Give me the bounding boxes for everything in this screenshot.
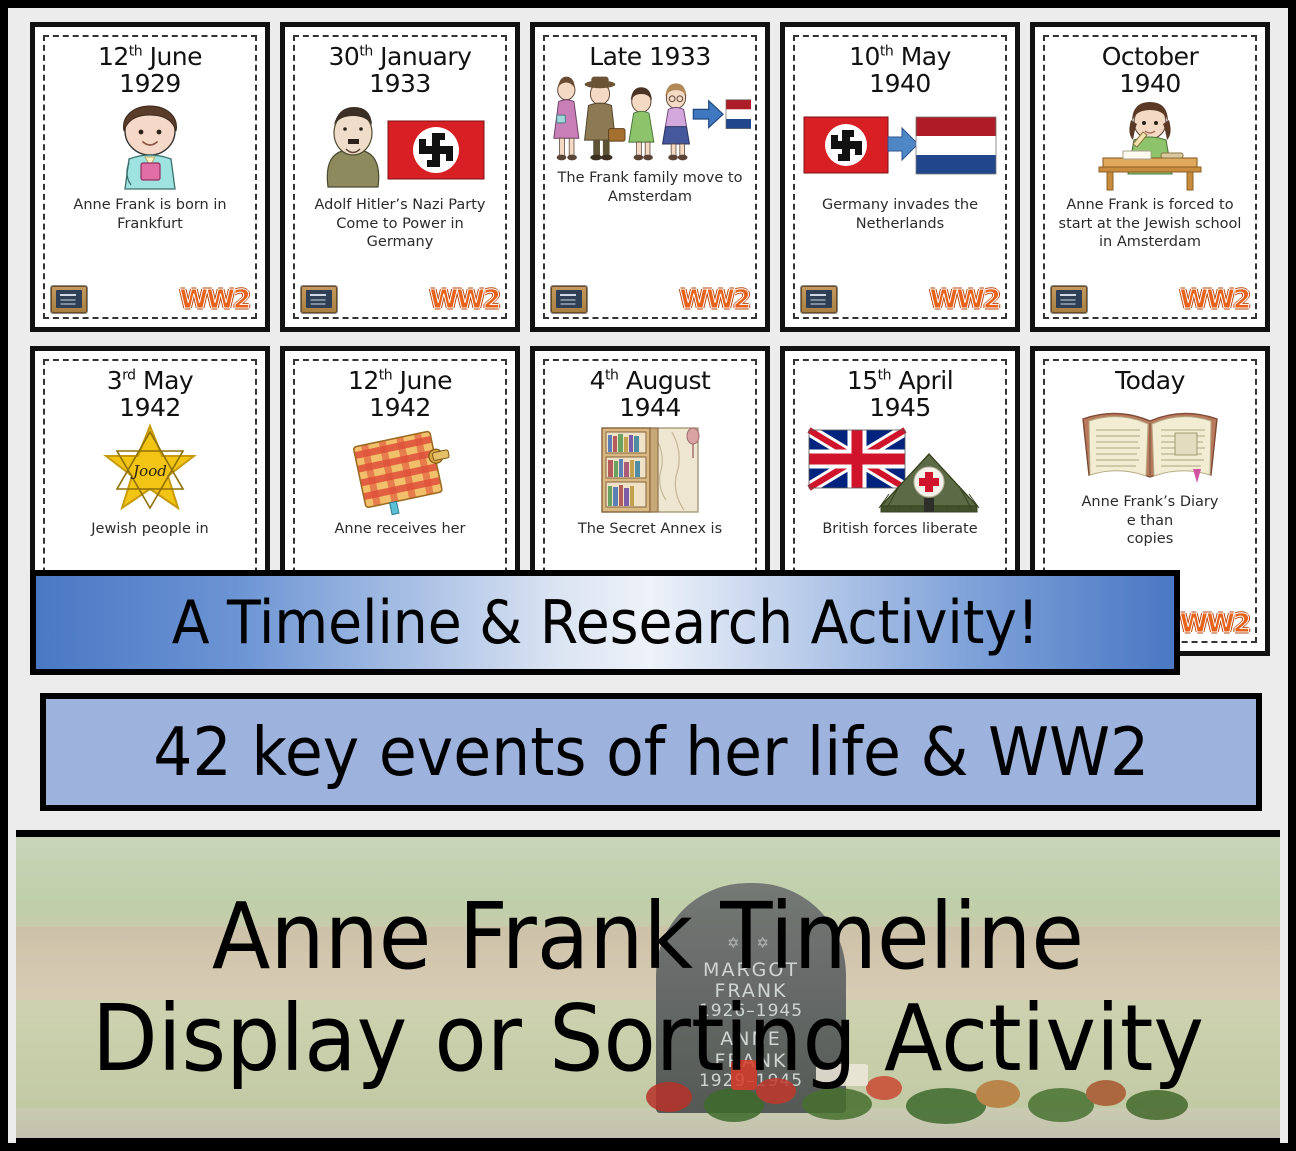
- ww2-logo: WW2: [1180, 287, 1249, 313]
- timeline-card[interactable]: 12th June 1929: [30, 22, 270, 332]
- card-date: 30th January 1933: [329, 43, 472, 97]
- timeline-card[interactable]: 10th May 1940: [780, 22, 1020, 332]
- card-date: Today: [1115, 367, 1185, 394]
- card-caption: Anne Frank is born in Frankfurt: [49, 196, 251, 233]
- yellow-star-of-david-jood-icon: Jood: [49, 424, 251, 516]
- ww2-logo: WW2: [680, 287, 749, 313]
- timeline-card[interactable]: 30th January 1933: [280, 22, 520, 332]
- timeline-card[interactable]: October 1940: [1030, 22, 1270, 332]
- card-caption: Jewish people in: [88, 520, 211, 539]
- card-caption: Anne Frank is forced to start at the Jew…: [1049, 196, 1251, 252]
- card-date: Late 1933: [589, 43, 711, 70]
- card-inner: 30th January 1933: [293, 35, 507, 319]
- girl-at-school-desk-icon: [1049, 100, 1251, 192]
- card-date: October 1940: [1102, 43, 1199, 97]
- ww2-logo: WW2: [930, 287, 999, 313]
- girl-holding-book-icon: [49, 100, 251, 192]
- card-footer: WW2: [801, 283, 999, 313]
- card-caption: Anne receives her: [331, 520, 468, 539]
- chalkboard-icon: [51, 286, 87, 313]
- poster-page: 12th June 1929: [0, 0, 1296, 1151]
- card-inner: Late 1933: [543, 35, 757, 319]
- banner-timeline-research-activity: A Timeline & Research Activity!: [30, 570, 1180, 675]
- card-inner: 10th May 1940: [793, 35, 1007, 319]
- open-diary-book-icon: [1049, 397, 1251, 489]
- union-jack-and-medical-tent-icon: [799, 424, 1001, 516]
- title-line-2: Display or Sorting Activity: [92, 993, 1204, 1085]
- banner-2-text: 42 key events of her life & WW2: [153, 713, 1149, 791]
- banner-1-text: A Timeline & Research Activity!: [171, 588, 1038, 658]
- timeline-card-grid: 12th June 1929: [30, 22, 1286, 656]
- red-checked-diary-icon: [299, 424, 501, 516]
- ww2-logo: WW2: [1180, 611, 1249, 637]
- card-caption: Germany invades the Netherlands: [799, 196, 1001, 233]
- card-inner: 12th June 1929: [43, 35, 257, 319]
- nazi-flag-arrow-dutch-flag-icon: [799, 100, 1001, 192]
- title-line-1: Anne Frank Timeline: [212, 891, 1084, 983]
- chalkboard-icon: [301, 286, 337, 313]
- chalkboard-icon: [551, 286, 587, 313]
- title-photo-section: ✡ ✡ MARGOT FRANK 1926–1945 ANNE FRANK 19…: [16, 830, 1280, 1143]
- card-date: 3rd May 1942: [107, 367, 193, 421]
- card-date: 12th June 1942: [348, 367, 452, 421]
- chalkboard-icon: [801, 286, 837, 313]
- card-caption: Anne Frank’s Diary e than copies: [1079, 493, 1222, 549]
- poster-title: Anne Frank Timeline Display or Sorting A…: [16, 837, 1280, 1138]
- bookcase-secret-door-icon: [549, 424, 751, 516]
- card-footer: WW2: [51, 283, 249, 313]
- card-inner: October 1940: [1043, 35, 1257, 319]
- card-footer: WW2: [551, 283, 749, 313]
- banner-key-events: 42 key events of her life & WW2: [40, 693, 1262, 811]
- card-footer: WW2: [301, 283, 499, 313]
- card-footer: WW2: [1051, 283, 1249, 313]
- chalkboard-icon: [1051, 286, 1087, 313]
- card-caption: British forces liberate: [819, 520, 980, 539]
- card-caption: The Frank family move to Amsterdam: [549, 169, 751, 206]
- card-date: 4th August 1944: [590, 367, 711, 421]
- timeline-card[interactable]: Late 1933: [530, 22, 770, 332]
- ww2-logo: WW2: [430, 287, 499, 313]
- svg-text:Jood: Jood: [130, 462, 167, 480]
- card-caption: The Secret Annex is: [575, 520, 725, 539]
- ww2-logo: WW2: [180, 287, 249, 313]
- hitler-and-nazi-flag-icon: [299, 100, 501, 192]
- card-date: 12th June 1929: [98, 43, 202, 97]
- card-date: 15th April 1945: [847, 367, 953, 421]
- card-date: 10th May 1940: [849, 43, 951, 97]
- card-caption: Adolf Hitler’s Nazi Party Come to Power …: [299, 196, 501, 252]
- family-moving-to-netherlands-icon: [549, 73, 751, 165]
